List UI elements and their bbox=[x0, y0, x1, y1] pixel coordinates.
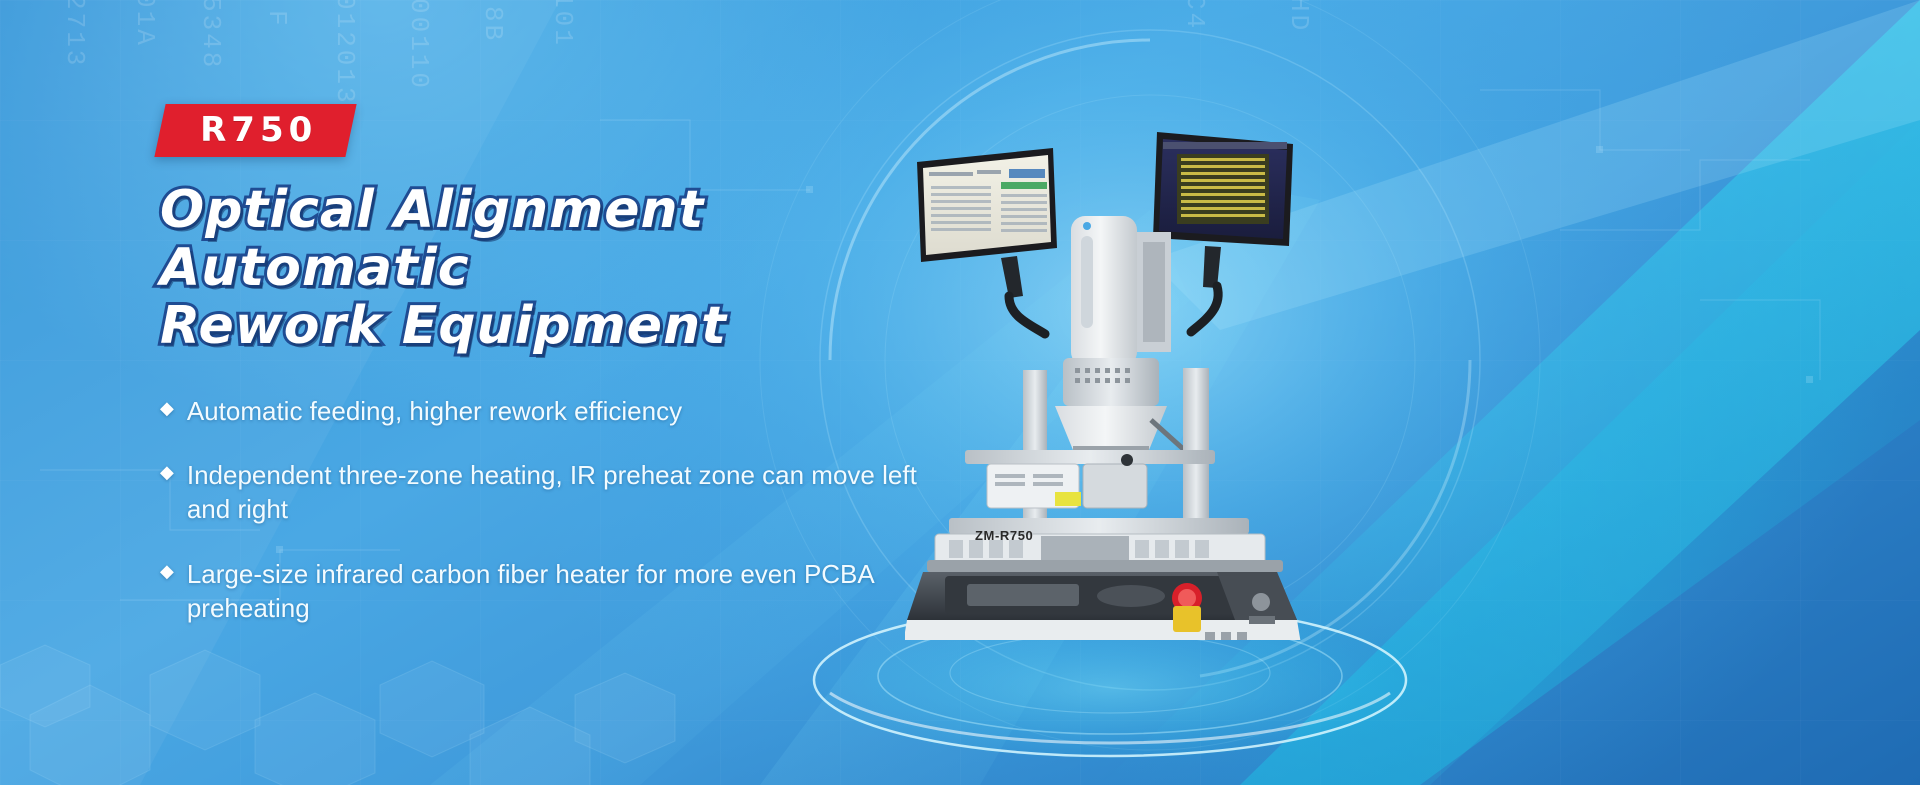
list-item-label: Large-size infrared carbon fiber heater … bbox=[187, 557, 947, 626]
diamond-bullet-icon: ◆ bbox=[160, 394, 174, 423]
list-item-label: Automatic feeding, higher rework efficie… bbox=[187, 394, 682, 428]
product-nameplate: ZM-R750 bbox=[975, 528, 1033, 543]
list-item-label: Independent three-zone heating, IR prehe… bbox=[187, 458, 947, 527]
feeder-rail-assembly bbox=[965, 450, 1215, 508]
worktable bbox=[927, 518, 1283, 572]
promo-banner: 2713 01A 5348 F 012013 00110 8B 101 C4 H… bbox=[0, 0, 1920, 785]
bg-code-column: 01A bbox=[130, 0, 160, 48]
bg-code-column: 101 bbox=[548, 0, 578, 48]
bg-code-column: 2713 bbox=[60, 0, 90, 68]
model-badge: R750 bbox=[154, 104, 356, 157]
bg-code-column: HD bbox=[1284, 0, 1314, 33]
list-item: ◆ Automatic feeding, higher rework effic… bbox=[160, 394, 980, 428]
bg-code-column: 012013 bbox=[330, 0, 360, 106]
bg-code-column: 00110 bbox=[404, 0, 434, 91]
model-badge-label: R750 bbox=[200, 113, 317, 147]
right-monitor bbox=[1153, 132, 1293, 332]
list-item: ◆ Large-size infrared carbon fiber heate… bbox=[160, 557, 980, 626]
list-item: ◆ Independent three-zone heating, IR pre… bbox=[160, 458, 980, 527]
copy-block: R750 Optical Alignment Automatic Rework … bbox=[160, 104, 980, 655]
page-title: Optical Alignment Automatic Rework Equip… bbox=[160, 181, 980, 356]
feature-list: ◆ Automatic feeding, higher rework effic… bbox=[160, 394, 980, 626]
diamond-bullet-icon: ◆ bbox=[160, 557, 174, 586]
bg-code-column: 5348 bbox=[196, 0, 226, 70]
bg-code-column: C4 bbox=[1180, 0, 1210, 31]
diamond-bullet-icon: ◆ bbox=[160, 458, 174, 487]
bg-code-column: F bbox=[262, 10, 292, 29]
machine-tower-head bbox=[1055, 216, 1191, 476]
bg-code-column: 8B bbox=[478, 6, 508, 43]
